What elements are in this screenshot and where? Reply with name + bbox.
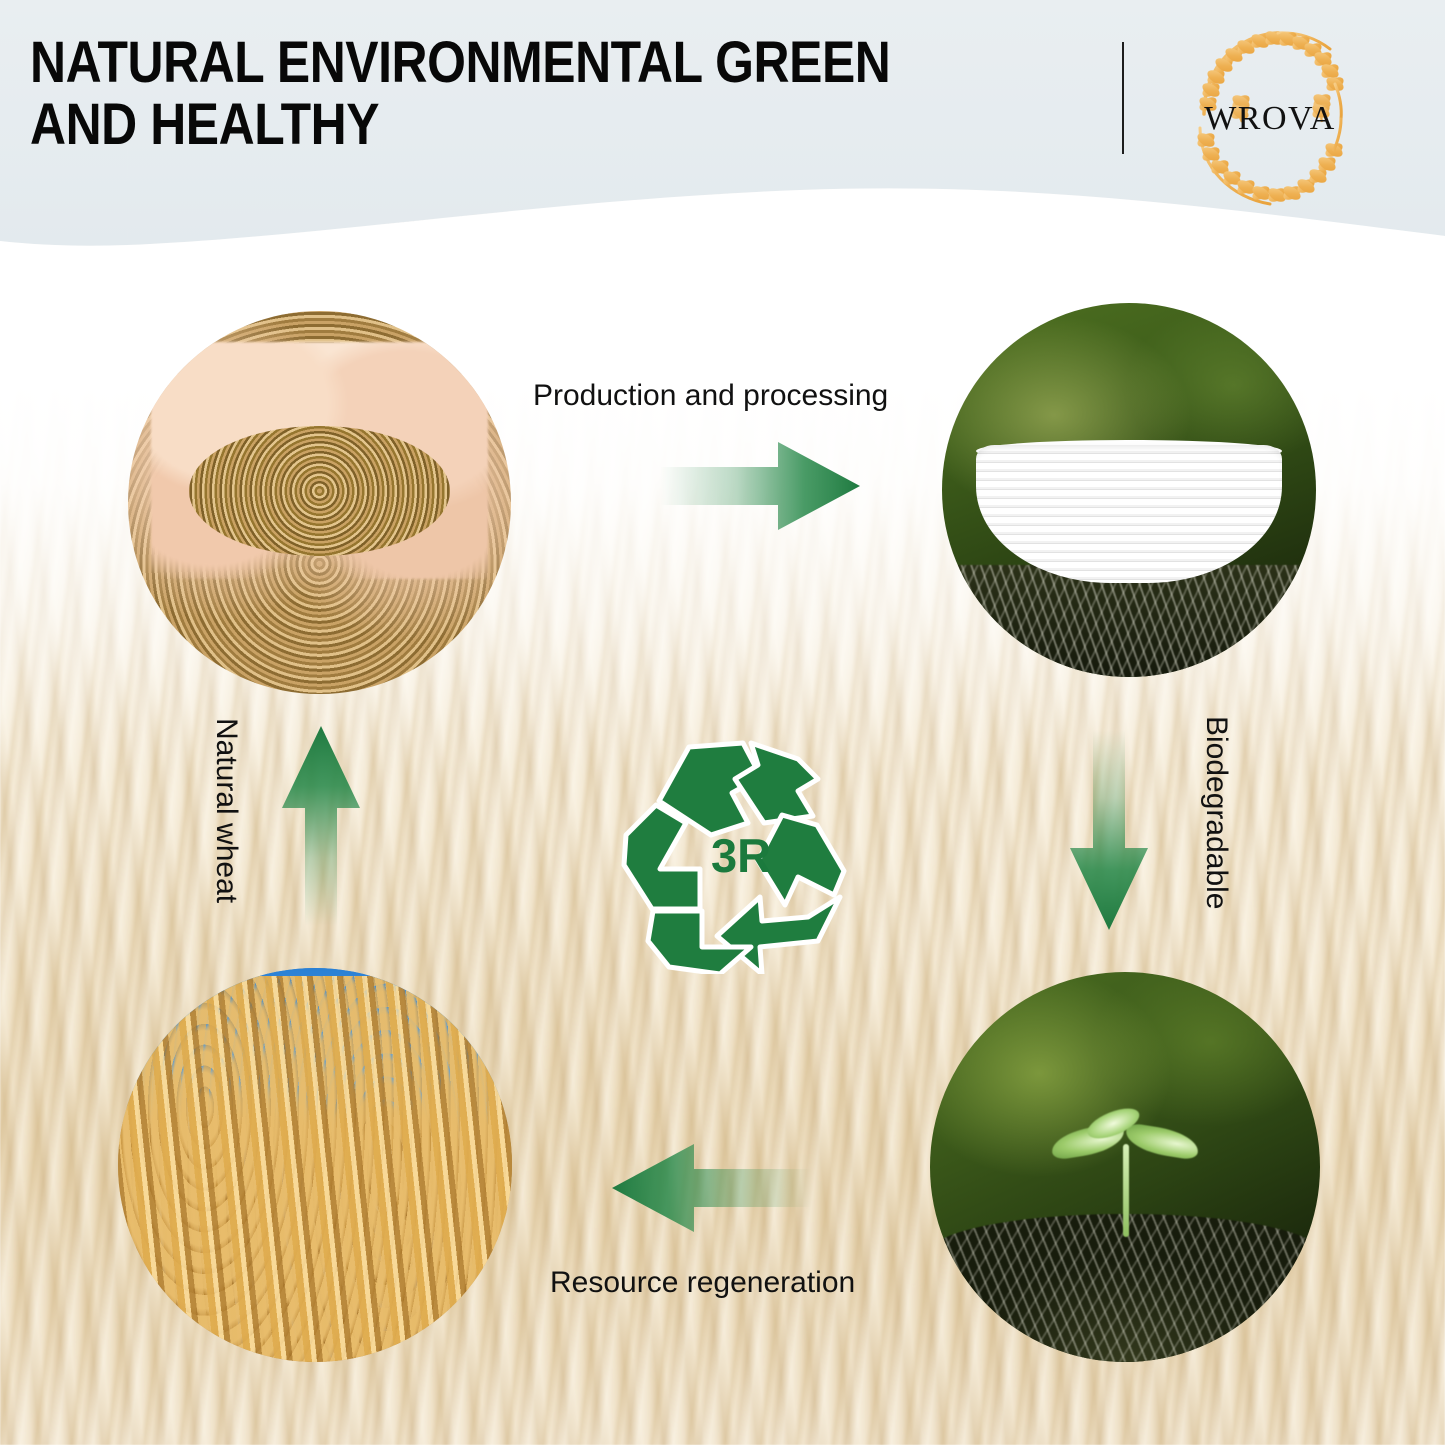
photo-plate-stack: [942, 303, 1316, 677]
arrow-down-icon: [1068, 730, 1150, 930]
photo-wheat-field: [118, 968, 512, 1362]
label-production-and-processing: Production and processing: [533, 379, 888, 413]
arrow-up-icon: [280, 726, 362, 926]
brand-name-text: WROVA: [1204, 100, 1336, 137]
seedling-leaf-right-shape: [1123, 1122, 1200, 1161]
label-resource-regeneration: Resource regeneration: [550, 1266, 855, 1300]
header-divider: [1122, 42, 1124, 154]
label-biodegradable: Biodegradable: [1199, 716, 1233, 910]
arrow-left-icon: [612, 1142, 812, 1234]
recycle-3r-symbol: 3R: [612, 731, 868, 974]
seedling-stem-shape: [1123, 1144, 1129, 1238]
page-title-line-1: NATURAL ENVIRONMENTAL GREEN: [30, 32, 924, 94]
photo-hands-holding-grain: [128, 311, 511, 694]
photo-seedling: [930, 972, 1320, 1362]
header-band: NATURAL ENVIRONMENTAL GREEN AND HEALTHY: [0, 0, 1445, 260]
label-natural-wheat: Natural wheat: [209, 718, 243, 903]
recycle-3r-label: 3R: [612, 731, 868, 974]
page-title-line-2: AND HEALTHY: [30, 94, 924, 156]
product-infographic: NATURAL ENVIRONMENTAL GREEN AND HEALTHY: [0, 0, 1445, 1445]
page-title: NATURAL ENVIRONMENTAL GREEN AND HEALTHY: [30, 32, 924, 156]
brand-logo: WROVA: [1170, 18, 1370, 218]
brand-name: WROVA: [1170, 100, 1370, 138]
plate-stack-shape: [976, 445, 1283, 583]
wheat-ears-shape: [118, 976, 512, 1362]
grain-pile-shape: [189, 426, 449, 556]
arrow-right-icon: [660, 440, 860, 532]
